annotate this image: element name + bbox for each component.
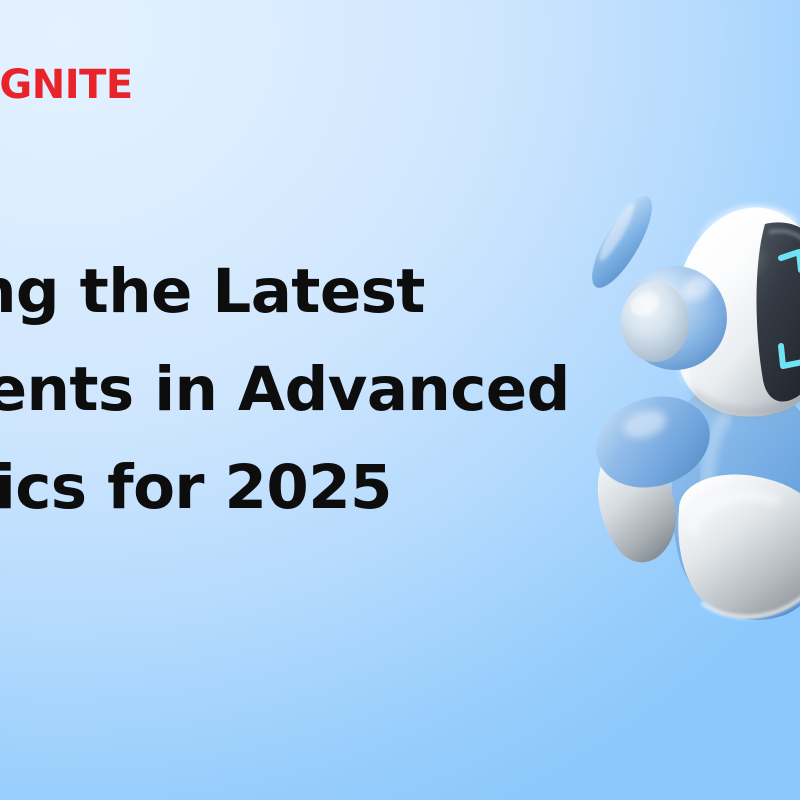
robot-head [674, 207, 800, 416]
headline-line-2: ements in Advanced [0, 341, 682, 439]
face-bracket-top-icon [781, 252, 800, 270]
robot-lower-shell [678, 475, 800, 619]
headline-line-1: oring the Latest [0, 243, 682, 341]
brand-logo[interactable]: IGNITE [0, 58, 166, 112]
face-bracket-bottom-icon [781, 346, 800, 366]
headline-line-3: botics for 2025 [0, 439, 682, 537]
robot-face-screen [757, 222, 800, 401]
page-title: oring the Latest ements in Advanced boti… [0, 243, 682, 537]
brand-logo-text: IGNITE [0, 65, 133, 105]
robot-torso [672, 385, 800, 620]
robot-hand [794, 511, 800, 585]
hero-banner: IGNITE oring the Latest ements in Advanc… [0, 0, 800, 800]
